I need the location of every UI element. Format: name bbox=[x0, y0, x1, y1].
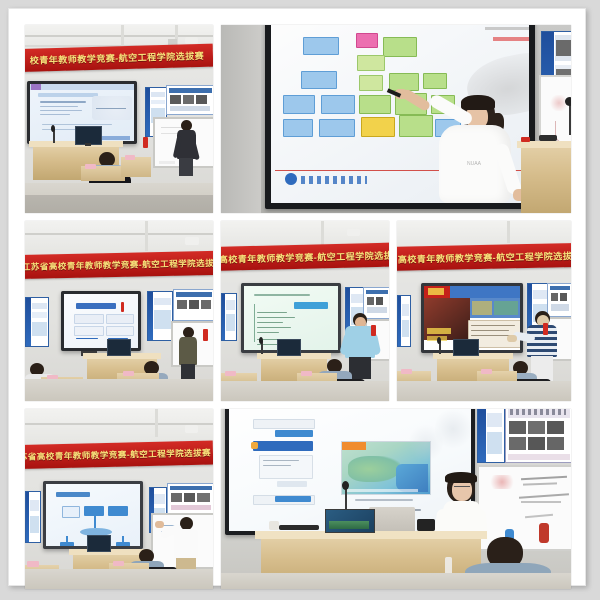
photo-row1-left[interactable]: 校青年教师教学竞赛-航空工程学院选拔赛 bbox=[25, 25, 213, 213]
photo-4-banner: 省高校青年教师教学竞赛-航空工程学院选拔赛 bbox=[221, 242, 389, 271]
photo-5-banner: 省高校青年教师教学竞赛-航空工程学院选拔赛 bbox=[397, 243, 571, 271]
photo-1-presenter bbox=[174, 120, 198, 176]
photo-2-presenter: NUAA bbox=[417, 97, 537, 213]
photo-6-banner: 苏省高校青年教师教学竞赛-航空工程学院选拔赛 bbox=[25, 441, 213, 469]
photo-4-banner-text: 省高校青年教师教学竞赛-航空工程学院选拔赛 bbox=[221, 248, 389, 266]
collage-grid: 校青年教师教学竞赛-航空工程学院选拔赛 bbox=[25, 25, 571, 571]
photo-row3-right[interactable] bbox=[221, 409, 571, 589]
photo-3-banner-text: 届江苏省高校青年教师教学竞赛-航空工程学院选拔赛 bbox=[25, 257, 213, 273]
photo-3-banner: 届江苏省高校青年教师教学竞赛-航空工程学院选拔赛 bbox=[25, 251, 213, 279]
photo-row3-left[interactable]: 苏省高校青年教师教学竞赛-航空工程学院选拔赛 bbox=[25, 409, 213, 589]
photo-row1-right[interactable]: NUAA bbox=[221, 25, 571, 213]
photo-row2-left[interactable]: 届江苏省高校青年教师教学竞赛-航空工程学院选拔赛 bbox=[25, 221, 213, 401]
photo-6-banner-text: 苏省高校青年教师教学竞赛-航空工程学院选拔赛 bbox=[25, 447, 211, 463]
photo-row2-right[interactable]: 省高校青年教师教学竞赛-航空工程学院选拔赛 bbox=[397, 221, 571, 401]
photo-5-banner-text: 省高校青年教师教学竞赛-航空工程学院选拔赛 bbox=[397, 248, 571, 265]
photo-1-banner-text: 校青年教师教学竞赛-航空工程学院选拔赛 bbox=[30, 49, 205, 67]
photo-row2-center[interactable]: 省高校青年教师教学竞赛-航空工程学院选拔赛 bbox=[221, 221, 389, 401]
collage-card: 校青年教师教学竞赛-航空工程学院选拔赛 bbox=[8, 8, 586, 586]
